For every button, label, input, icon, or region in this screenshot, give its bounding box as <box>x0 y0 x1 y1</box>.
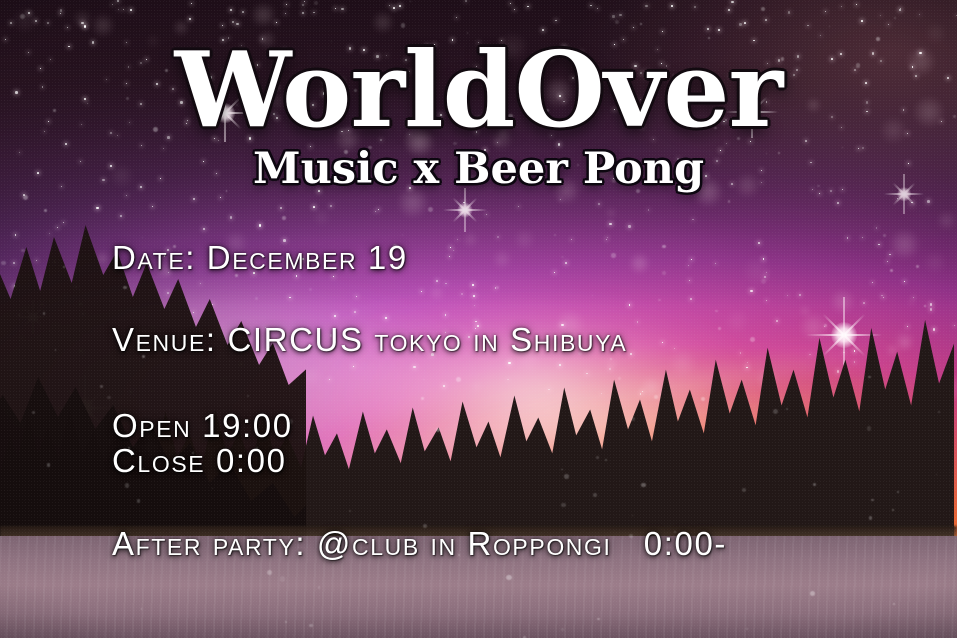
detail-close-time: Close 0:00 <box>112 443 287 479</box>
detail-after-party: After party: @club in Roppongi 0:00- <box>112 526 727 562</box>
detail-venue-prefix: Venue: <box>112 321 227 358</box>
detail-date: Date: December 19 <box>112 240 408 276</box>
title-block: WorldOver Music x Beer Pong <box>0 38 957 191</box>
detail-venue-suffix: tokyo in Shibuya <box>364 321 628 358</box>
detail-venue-name: CIRCUS <box>227 321 363 358</box>
event-flyer: WorldOver Music x Beer Pong Date: Decemb… <box>0 0 957 638</box>
event-title: WorldOver <box>0 38 957 142</box>
detail-venue: Venue: CIRCUS tokyo in Shibuya <box>112 322 627 358</box>
event-subtitle: Music x Beer Pong <box>0 148 957 191</box>
detail-open-time: Open 19:00 <box>112 408 293 444</box>
